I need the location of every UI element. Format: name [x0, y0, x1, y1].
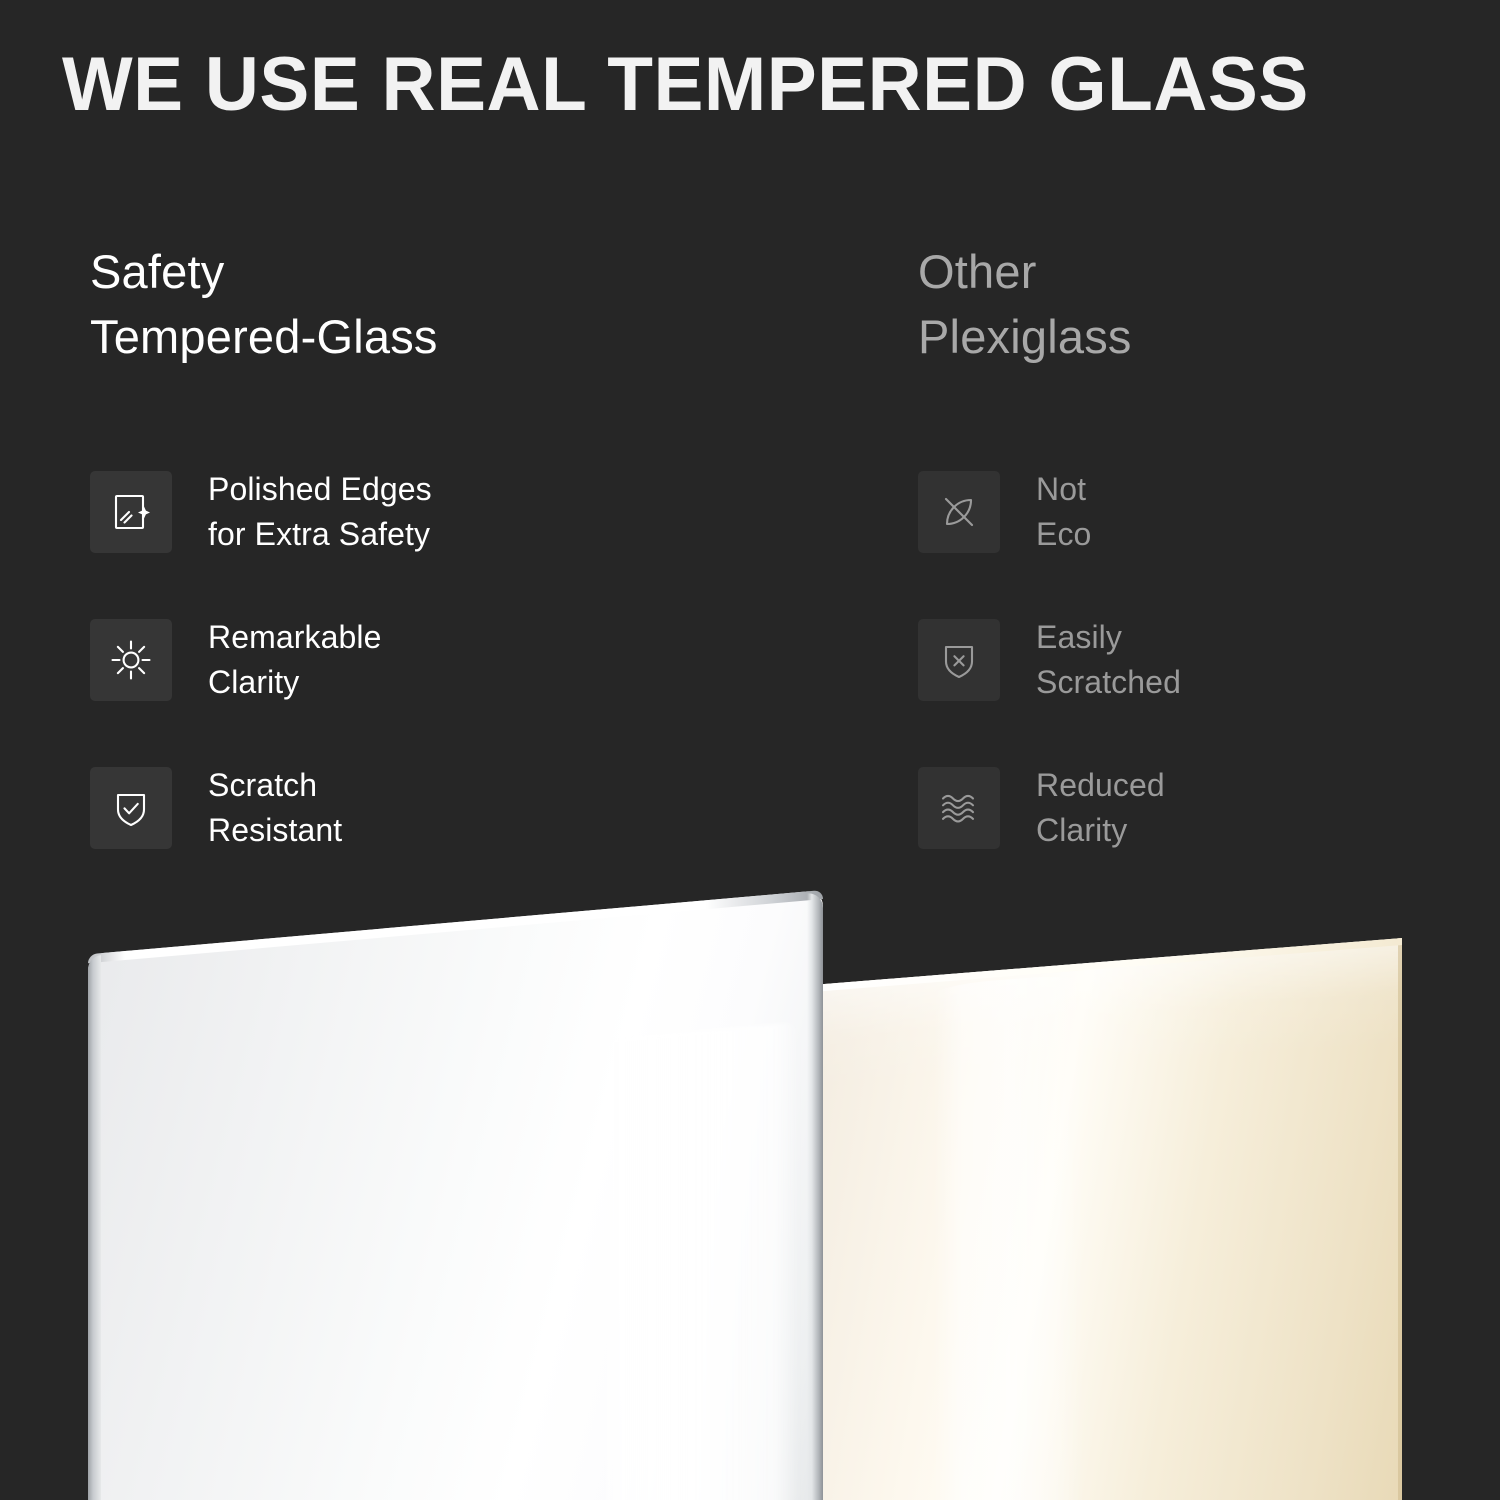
feature-label-polished-edges: Polished Edges for Extra Safety — [208, 467, 432, 558]
feature-easily-scratched: Easily Scratched — [918, 610, 1478, 710]
infographic-page: WE USE REAL TEMPERED GLASS Safety Temper… — [0, 0, 1500, 1500]
column-title-plexiglass: Other Plexiglass — [918, 240, 1478, 370]
feature-polished-edges: Polished Edges for Extra Safety — [90, 462, 850, 562]
feature-label-reduced-clarity: Reduced Clarity — [1036, 763, 1165, 854]
column-plexiglass: Other Plexiglass Not Eco — [918, 240, 1478, 370]
feature-label-remarkable-clarity: Remarkable Clarity — [208, 615, 382, 706]
feature-list-tempered-glass: Polished Edges for Extra Safety Remarkab… — [90, 462, 850, 906]
column-tempered-glass: Safety Tempered-Glass Polished Edges for… — [90, 240, 850, 370]
product-panels — [0, 860, 1500, 1500]
sun-brightness-icon — [90, 619, 172, 701]
feature-remarkable-clarity: Remarkable Clarity — [90, 610, 850, 710]
feature-label-not-eco: Not Eco — [1036, 467, 1091, 558]
tempered-glass-panel — [88, 890, 823, 1500]
feature-not-eco: Not Eco — [918, 462, 1478, 562]
glass-pane-sparkle-icon — [90, 471, 172, 553]
comparison-columns: Safety Tempered-Glass Polished Edges for… — [0, 240, 1500, 880]
shield-x-icon — [918, 619, 1000, 701]
leaf-slash-icon — [918, 471, 1000, 553]
glass-polished-edge-right — [807, 892, 823, 1500]
wavy-lines-icon — [918, 767, 1000, 849]
page-title: WE USE REAL TEMPERED GLASS — [62, 44, 1441, 126]
feature-label-scratch-resistant: Scratch Resistant — [208, 763, 342, 854]
shield-check-icon — [90, 767, 172, 849]
feature-label-easily-scratched: Easily Scratched — [1036, 615, 1181, 706]
plexiglass-panel — [812, 938, 1402, 1500]
feature-scratch-resistant: Scratch Resistant — [90, 758, 850, 858]
glass-reflection — [602, 1022, 798, 1500]
feature-reduced-clarity: Reduced Clarity — [918, 758, 1478, 858]
feature-list-plexiglass: Not Eco Easily Scratched — [918, 462, 1478, 906]
column-title-tempered-glass: Safety Tempered-Glass — [90, 240, 850, 370]
